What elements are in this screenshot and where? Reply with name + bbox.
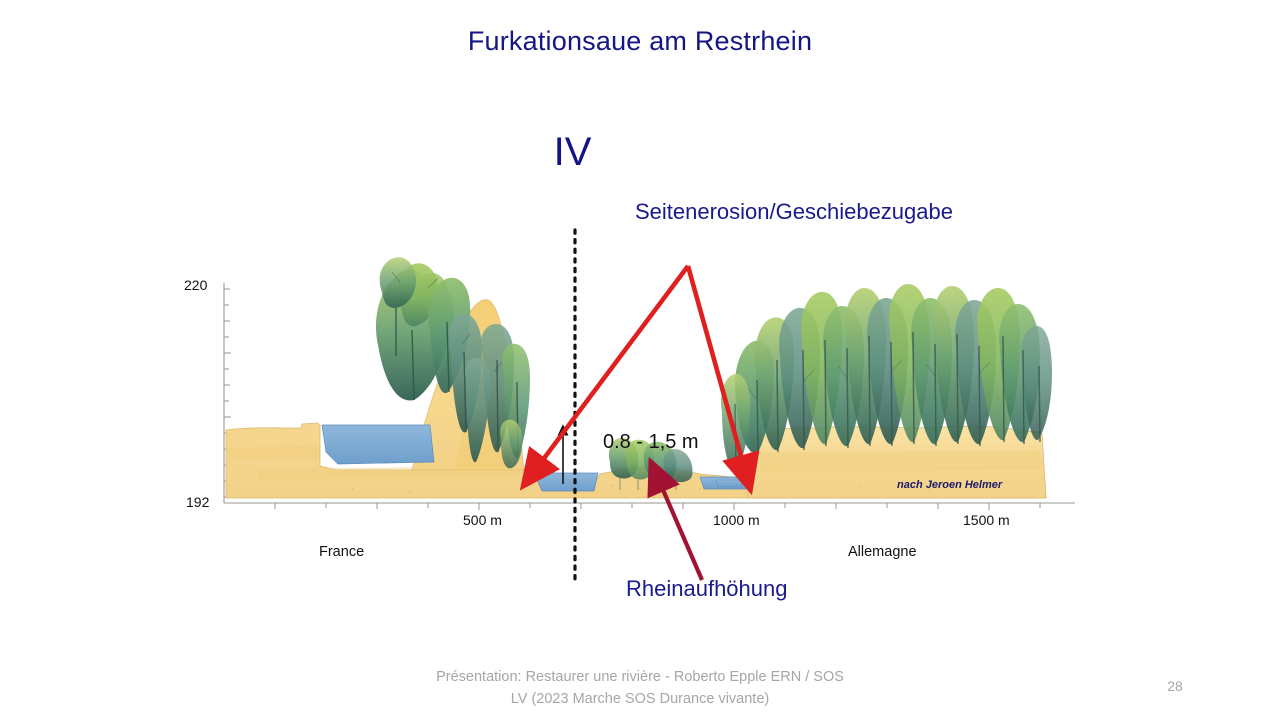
region-label-france: France (319, 544, 364, 560)
annotation-rheinaufhoehung: Rheinaufhöhung (626, 576, 787, 602)
annotation-depth-value: 0.8 - 1,5 m (603, 431, 699, 454)
riverbed-raise-arrow (657, 476, 702, 580)
chart-axes (224, 283, 1075, 510)
y-axis-tick-top: 220 (184, 277, 207, 293)
x-axis-tick-1500: 1500 m (963, 512, 1010, 528)
section-numeral: IV (0, 130, 1145, 175)
terrain-profile (226, 300, 1046, 498)
y-axis-tick-bottom: 192 (186, 494, 209, 510)
tree-group-right-forest (721, 284, 1052, 470)
annotation-seitenerosion: Seitenerosion/Geschiebezugabe (0, 199, 1280, 225)
footer-line-2: LV (2023 Marche SOS Durance vivante) (340, 688, 940, 710)
slide-footer: Présentation: Restaurer une rivière - Ro… (340, 666, 940, 710)
footer-line-1: Présentation: Restaurer une rivière - Ro… (340, 666, 940, 688)
page-title: Furkationsaue am Restrhein (0, 26, 1280, 57)
river-cross-section-figure (0, 0, 1280, 720)
slide-canvas: Furkationsaue am Restrhein IV Seiteneros… (0, 0, 1280, 720)
x-axis-tick-1000: 1000 m (713, 512, 760, 528)
water-braid-right (700, 477, 748, 489)
x-axis-tick-500: 500 m (463, 512, 502, 528)
slide-number: 28 (1160, 678, 1190, 694)
water-main-channel (534, 473, 598, 491)
tree-group-dune (376, 257, 530, 462)
region-label-allemagne: Allemagne (848, 544, 917, 560)
illustration-credit: nach Jeroen Helmer (897, 479, 1002, 491)
water-right-edge (716, 480, 742, 487)
water-left-pool (322, 425, 434, 464)
